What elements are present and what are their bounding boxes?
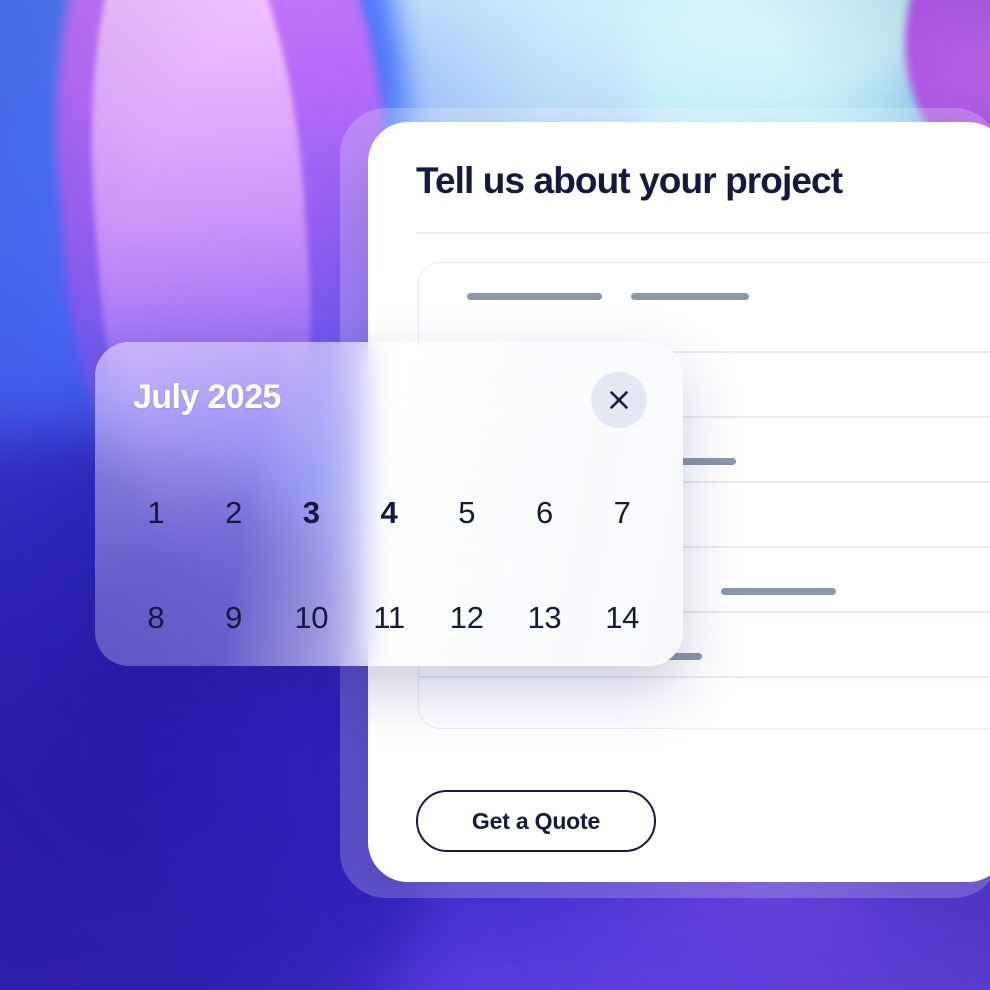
calendar-day-4[interactable]: 4 bbox=[350, 460, 428, 565]
close-icon bbox=[606, 387, 632, 413]
calendar-day-13[interactable]: 13 bbox=[506, 565, 584, 666]
form-row-separator bbox=[419, 676, 990, 678]
calendar-day-2[interactable]: 2 bbox=[195, 460, 273, 565]
page-title: Tell us about your project bbox=[416, 160, 842, 202]
form-field-placeholder-bar bbox=[467, 293, 602, 300]
calendar-day-9[interactable]: 9 bbox=[195, 565, 273, 666]
calendar-day-grid: 1234567891011121314 bbox=[117, 460, 661, 666]
title-divider bbox=[416, 232, 990, 234]
calendar-day-11[interactable]: 11 bbox=[350, 565, 428, 666]
screenshot-root: Tell us about your project Get a Quote J… bbox=[0, 0, 990, 990]
calendar-day-5[interactable]: 5 bbox=[428, 460, 506, 565]
date-picker-popover: July 2025 1234567891011121314 bbox=[95, 342, 683, 666]
get-a-quote-button[interactable]: Get a Quote bbox=[416, 790, 656, 852]
calendar-day-12[interactable]: 12 bbox=[428, 565, 506, 666]
calendar-day-7[interactable]: 7 bbox=[583, 460, 661, 565]
close-button[interactable] bbox=[591, 372, 647, 428]
form-field-placeholder-bar bbox=[721, 588, 836, 595]
calendar-month-label: July 2025 bbox=[133, 378, 281, 417]
calendar-day-3[interactable]: 3 bbox=[272, 460, 350, 565]
form-field-placeholder-bar bbox=[631, 293, 749, 300]
calendar-day-10[interactable]: 10 bbox=[272, 565, 350, 666]
calendar-day-8[interactable]: 8 bbox=[117, 565, 195, 666]
calendar-day-6[interactable]: 6 bbox=[506, 460, 584, 565]
calendar-day-14[interactable]: 14 bbox=[583, 565, 661, 666]
calendar-day-1[interactable]: 1 bbox=[117, 460, 195, 565]
